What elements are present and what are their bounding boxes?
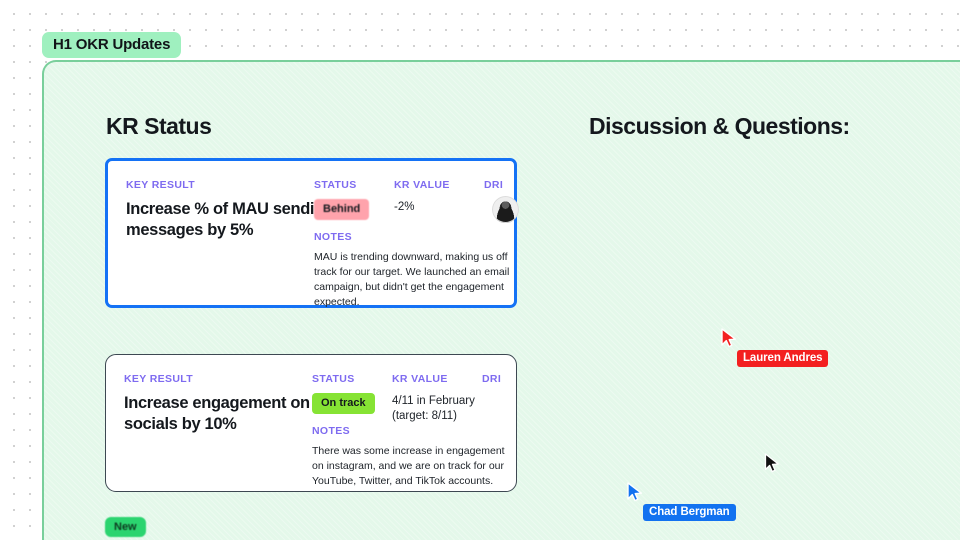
kr-title: Increase % of MAU sending messages by 5% — [126, 199, 336, 241]
frame-label[interactable]: H1 OKR Updates — [42, 32, 181, 58]
cursor-label: Lauren Andres — [737, 350, 828, 367]
avatar[interactable] — [492, 196, 519, 223]
label-dri: DRI — [482, 373, 536, 385]
label-dri: DRI — [484, 179, 538, 191]
section-heading-kr-status: KR Status — [106, 113, 211, 140]
kr-key-result-column: KEY RESULT Increase engagement on social… — [124, 373, 334, 435]
kr-status-column: STATUS Behind — [314, 179, 392, 220]
kr-dri-column: DRI — [482, 373, 536, 385]
kr-notes-column: NOTES MAU is trending downward, making u… — [314, 231, 510, 310]
label-status: STATUS — [312, 373, 390, 385]
kr-status-column: STATUS On track — [312, 373, 390, 414]
okr-frame[interactable]: KR Status Discussion & Questions: KEY RE… — [42, 60, 960, 540]
label-notes: NOTES — [314, 231, 510, 243]
status-badge[interactable]: Behind — [314, 199, 369, 220]
kr-value-text: 4/11 in February (target: 8/11) — [392, 394, 492, 425]
kr-key-result-column: KEY RESULT Increase % of MAU sending mes… — [126, 179, 336, 241]
kr-card[interactable]: KEY RESULT Increase engagement on social… — [105, 354, 517, 492]
cursor-arrow-icon — [720, 328, 738, 348]
bottom-status-chip[interactable]: New — [105, 517, 146, 537]
kr-value-column: KR VALUE 4/11 in February (target: 8/11) — [392, 373, 492, 425]
status-badge[interactable]: On track — [312, 393, 375, 414]
label-key-result: KEY RESULT — [124, 373, 334, 385]
kr-card[interactable]: KEY RESULT Increase % of MAU sending mes… — [105, 158, 517, 308]
label-key-result: KEY RESULT — [126, 179, 336, 191]
kr-notes-column: NOTES There was some increase in engagem… — [312, 425, 508, 489]
label-notes: NOTES — [312, 425, 508, 437]
collaborator-cursor-chad: Chad Bergman — [626, 482, 736, 521]
section-heading-discussion: Discussion & Questions: — [589, 113, 850, 140]
label-status: STATUS — [314, 179, 392, 191]
kr-dri-column: DRI — [484, 179, 538, 223]
kr-value-column: KR VALUE -2% — [394, 179, 494, 215]
kr-notes-text: MAU is trending downward, making us off … — [314, 250, 510, 310]
kr-value-text: -2% — [394, 200, 494, 215]
label-kr-value: KR VALUE — [392, 373, 492, 385]
collaborator-cursor-lauren: Lauren Andres — [720, 328, 828, 367]
kr-notes-text: There was some increase in engagement on… — [312, 444, 508, 489]
whiteboard-canvas[interactable]: H1 OKR Updates KR Status Discussion & Qu… — [0, 0, 960, 540]
cursor-label: Chad Bergman — [643, 504, 736, 521]
cursor-arrow-icon — [626, 482, 644, 502]
label-kr-value: KR VALUE — [394, 179, 494, 191]
kr-title: Increase engagement on socials by 10% — [124, 393, 334, 435]
